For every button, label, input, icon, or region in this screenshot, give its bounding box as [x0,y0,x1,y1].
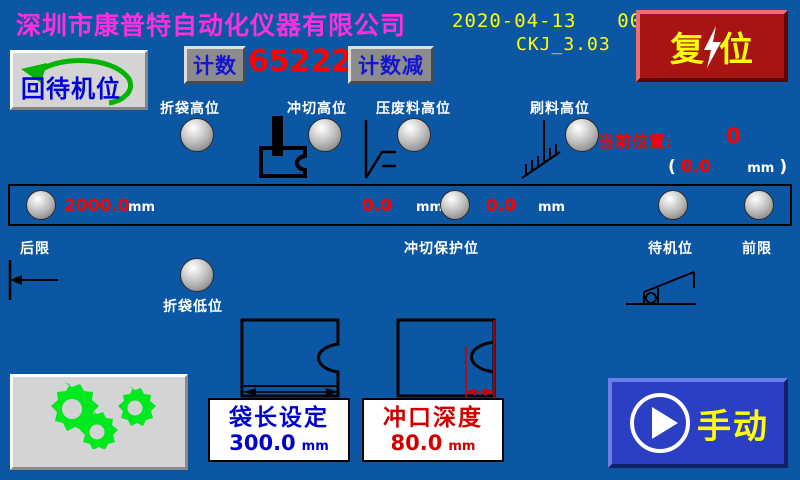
rail-unit-rear-limit: mm [128,200,155,215]
indicator-lamp-fold-bag-high[interactable] [180,118,214,152]
bag-length-value: 300.0 [229,431,295,455]
reset-button[interactable]: 复 位 [636,10,788,82]
left-travel-arrow-icon [6,258,62,306]
reset-button-label: 复 位 [670,22,754,71]
page-title: 深圳市康普特自动化仪器有限公司 [16,6,406,42]
punch-depth-value: 80.0 [391,431,443,455]
manual-mode-button[interactable]: 手动 [608,378,788,468]
rail-label-punch-protect: 冲切保护位 [404,238,479,258]
paren-open: ( [668,157,676,177]
punch-depth-value-row: 80.0 mm [391,431,476,455]
punch-depth-diagram [394,316,506,404]
rail-unit-punch-protect: mm [416,200,443,215]
manual-mode-label: 手动 [697,399,769,448]
rail-label-front-limit: 前限 [742,238,772,258]
count-decrease-label: 计数减 [358,50,424,80]
indicator-label-punch-high: 冲切高位 [287,98,347,118]
indicator-label-scrap-high: 压废料高位 [376,98,451,118]
gears-icon [13,377,183,449]
punch-tool-icon [258,116,310,182]
rail-value-rear-limit: 2000.0 [64,196,130,216]
current-position-mm-value: 0.0 [681,157,711,177]
current-position-value: 0 [726,124,741,148]
rail-unit-punch-protect-2: mm [538,200,565,215]
scrap-press-icon [358,120,398,186]
brush-icon [516,120,572,186]
return-to-standby-label: 回待机位 [21,69,121,104]
reset-label-right: 位 [719,22,754,71]
play-circle-icon [627,390,693,456]
current-position-label: 当前位置: [598,128,673,152]
punch-depth-setting[interactable]: 冲口深度 80.0 mm [362,398,504,462]
indicator-lamp-scrap-high[interactable] [397,118,431,152]
date-text: 2020-04-13 [452,10,576,32]
indicator-lamp-fold-bag-low[interactable] [180,258,214,292]
indicator-label-fold-bag-low: 折袋低位 [163,296,223,316]
rail-lamp-standby[interactable] [658,190,688,220]
paren-close: ) [779,157,787,177]
hmi-screen: 深圳市康普特自动化仪器有限公司 2020-04-13 00:00 CKJ_3.0… [0,0,800,480]
rail-value-punch-protect: 0.0 [362,196,392,216]
indicator-lamp-punch-high[interactable] [308,118,342,152]
rail-lamp-punch-protect[interactable] [440,190,470,220]
current-position-mm-group: ( 0.0 mm ) [668,157,787,177]
current-position-mm-unit: mm [747,161,774,176]
bag-length-title: 袋长设定 [229,405,329,431]
indicator-label-brush-high: 刷料高位 [530,98,590,118]
bag-length-unit: mm [302,439,329,454]
rail-lamp-rear-limit[interactable] [26,190,56,220]
rail-value-punch-protect-2: 0.0 [486,196,516,216]
bag-length-diagram [238,316,350,404]
ramp-diagram-icon [624,268,698,314]
rail-lamp-front-limit[interactable] [744,190,774,220]
punch-depth-unit: mm [448,439,475,454]
settings-button[interactable]: 设置 [10,374,188,470]
return-to-standby-button[interactable]: 回待机位 [10,50,148,110]
count-decrease-button[interactable]: 计数减 [348,46,434,84]
version-text: CKJ_3.03 [516,34,611,55]
bag-length-value-row: 300.0 mm [229,431,329,455]
rail-label-rear-limit: 后限 [20,238,50,258]
bag-length-setting[interactable]: 袋长设定 300.0 mm [208,398,350,462]
count-increase-button[interactable]: 计数 [184,46,246,84]
punch-depth-title: 冲口深度 [383,405,483,431]
count-value: 65222 [248,44,348,79]
reset-label-left: 复 [670,22,705,71]
count-increase-label: 计数 [193,50,237,80]
rail-label-standby: 待机位 [648,238,693,258]
indicator-label-fold-bag-high: 折袋高位 [160,98,220,118]
